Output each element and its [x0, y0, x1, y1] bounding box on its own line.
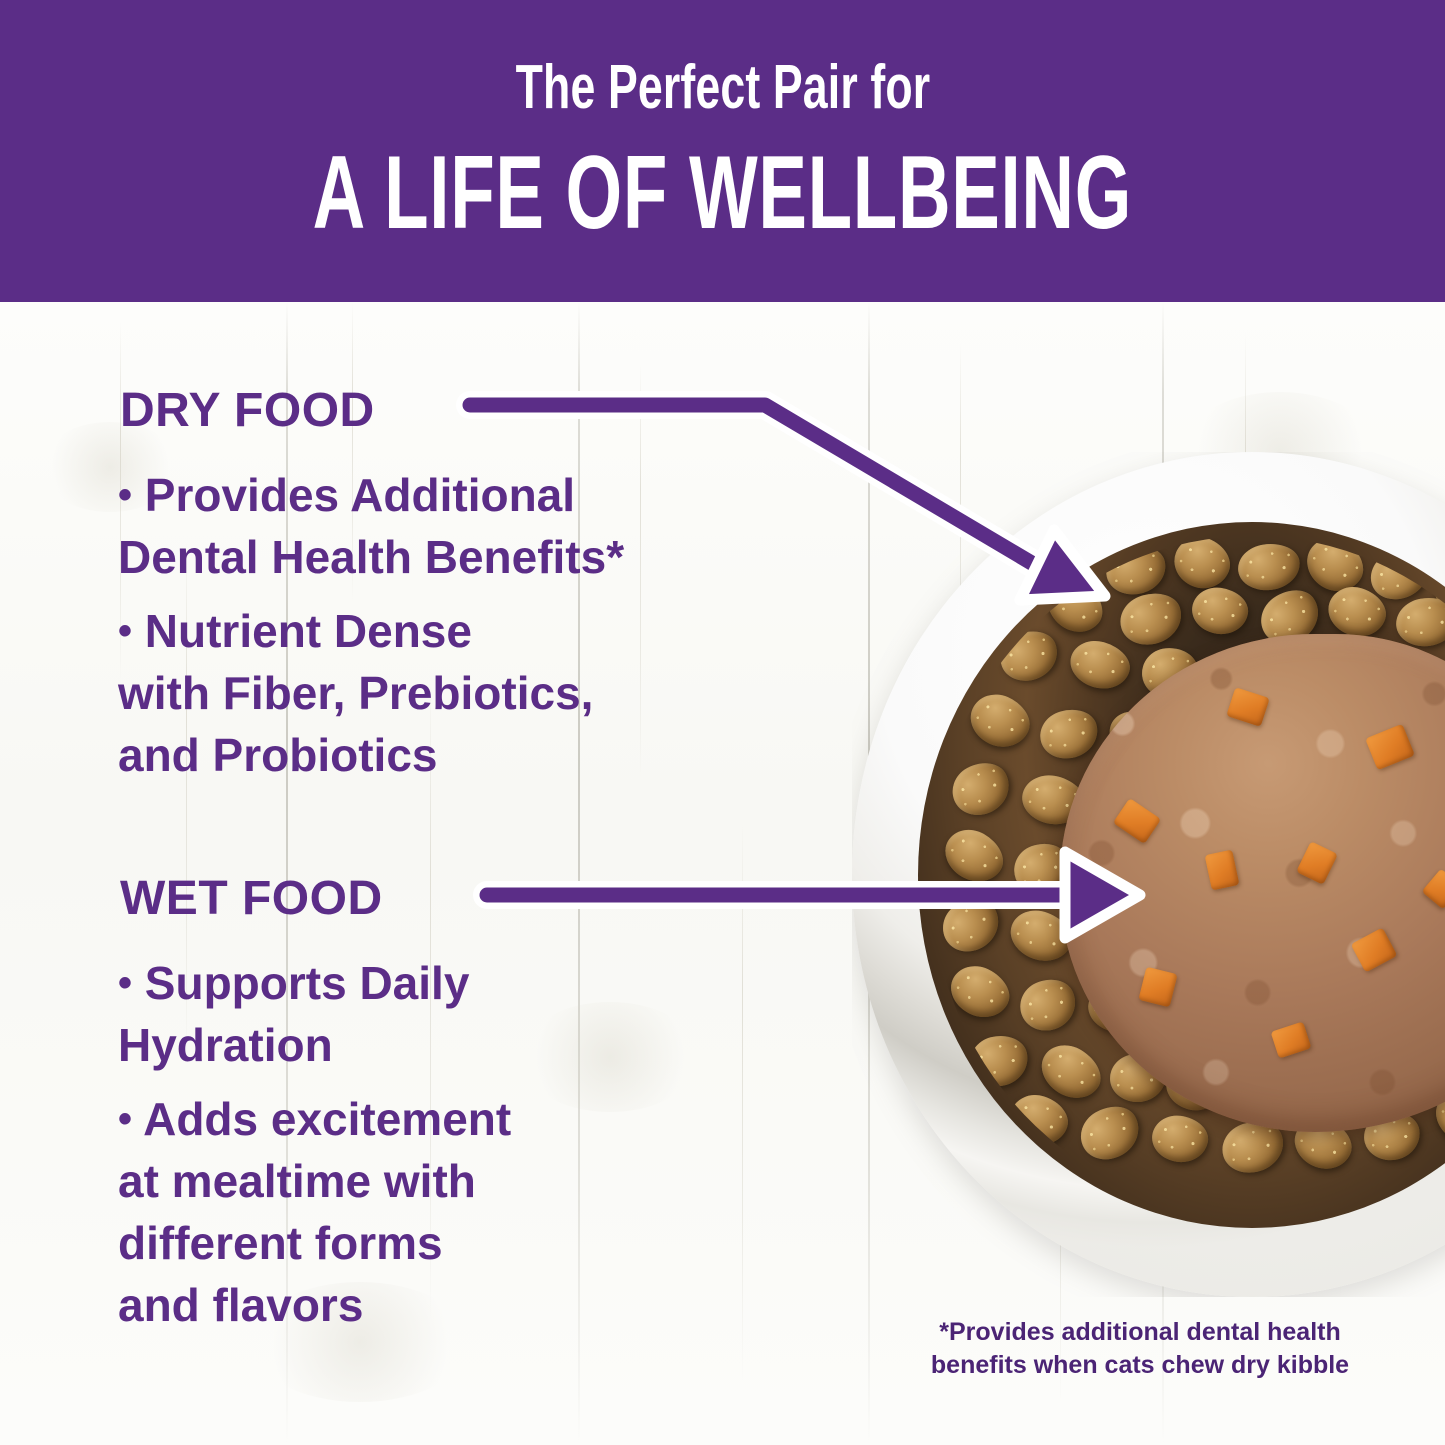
infographic-canvas: The Perfect Pair for A LIFE OF WELLBEING [0, 0, 1445, 1445]
section-heading-wet-food: WET FOOD [120, 871, 383, 926]
bullet-line: at mealtime with [118, 1155, 476, 1207]
banner-title: A LIFE OF WELLBEING [313, 141, 1132, 245]
bullet-line: Supports Daily [145, 957, 470, 1009]
bullet-line: with Fiber, Prebiotics, [118, 667, 593, 719]
bullet-line: Nutrient Dense [145, 605, 472, 657]
bullet-dot: • [118, 1097, 132, 1141]
bullet-dot: • [118, 473, 132, 517]
wet-food-bullet-1: • Supports Daily Hydration [118, 952, 469, 1076]
dry-food-bullet-2: • Nutrient Dense with Fiber, Prebiotics,… [118, 600, 593, 786]
bullet-line: Dental Health Benefits* [118, 531, 624, 583]
footnote: *Provides additional dental health benef… [930, 1316, 1350, 1382]
bullet-line: and flavors [118, 1279, 363, 1331]
footnote-line-2: benefits when cats chew dry kibble [931, 1351, 1349, 1379]
footnote-line-1: *Provides additional dental health [939, 1318, 1340, 1346]
bullet-dot: • [118, 609, 132, 653]
dry-food-bullet-1: • Provides Additional Dental Health Bene… [118, 464, 624, 588]
bullet-line: different forms [118, 1217, 443, 1269]
banner-subtitle: The Perfect Pair for [515, 57, 930, 119]
wet-food-bullet-2: • Adds excitement at mealtime with diffe… [118, 1088, 511, 1336]
bullet-line: Hydration [118, 1019, 333, 1071]
bullet-line: Provides Additional [145, 469, 575, 521]
bullet-dot: • [118, 961, 132, 1005]
bullet-line: Adds excitement [143, 1093, 511, 1145]
section-heading-dry-food: DRY FOOD [120, 383, 375, 438]
bullet-line: and Probiotics [118, 729, 437, 781]
header-banner: The Perfect Pair for A LIFE OF WELLBEING [0, 0, 1445, 302]
